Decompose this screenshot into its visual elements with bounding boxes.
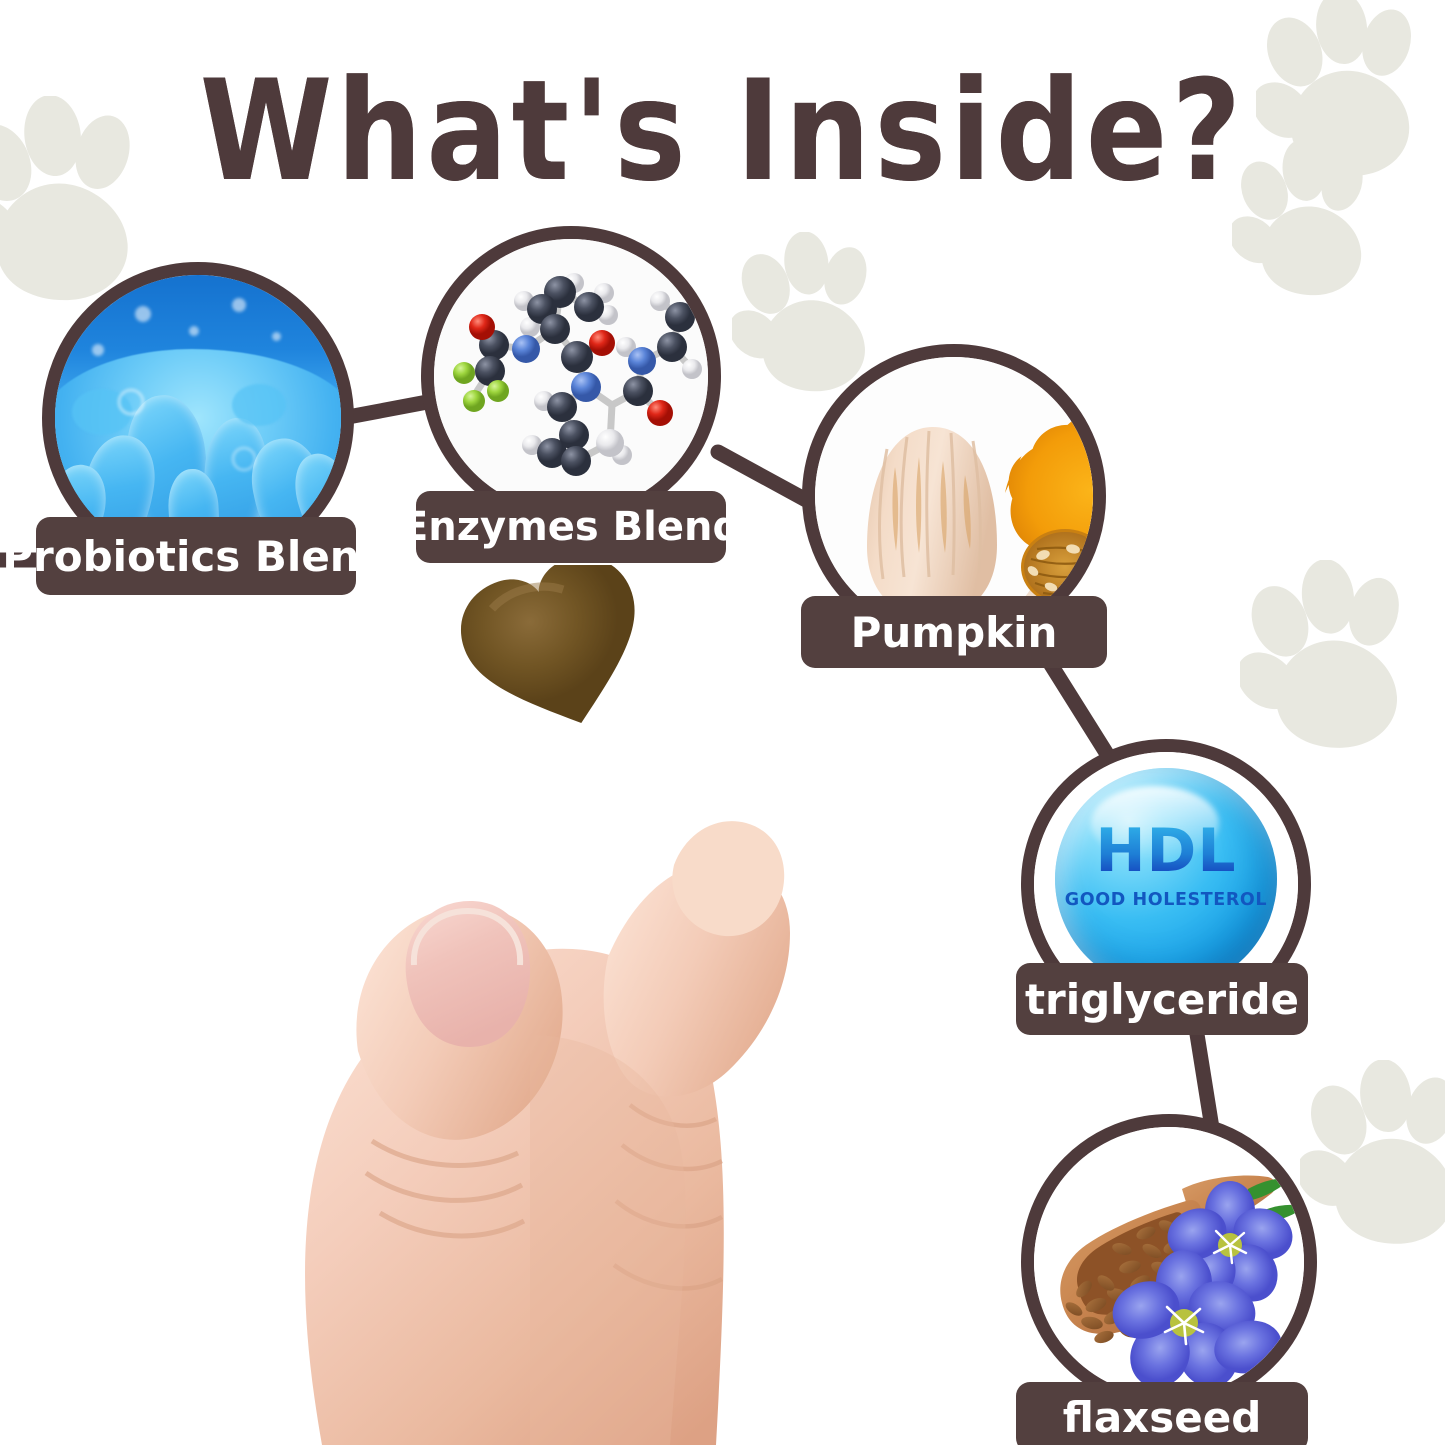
label-enzymes[interactable]: Enzymes Blend [416, 491, 726, 563]
hand-holding-treat [230, 565, 870, 1445]
label-triglyceride-text: triglyceride [1025, 975, 1299, 1024]
label-enzymes-text: Enzymes Blend [401, 504, 741, 550]
connector-pumpkin-triglyceride [1048, 660, 1112, 762]
hdl-subtitle: GOOD HOLESTEROL [1055, 890, 1277, 910]
connector-triglyceride-flaxseed [1196, 1028, 1212, 1128]
infographic-canvas: What's Inside? What's Inside? [0, 0, 1445, 1445]
heart-shaped-treat [448, 565, 665, 750]
label-flaxseed-text: flaxseed [1063, 1393, 1262, 1442]
thumbnail [406, 901, 530, 1047]
flaxseed-image-circle [1021, 1114, 1317, 1410]
flaxseed-icon [1034, 1127, 1304, 1397]
hdl-title: HDL [1055, 821, 1277, 881]
label-probiotics-text: Probiotics Blend [2, 532, 390, 581]
page-title-text: What's Inside? [200, 49, 1246, 212]
label-probiotics[interactable]: Probiotics Blend [36, 517, 356, 595]
molecule-model-icon [434, 239, 708, 513]
label-flaxseed[interactable]: flaxseed [1016, 1382, 1308, 1445]
index-fingertip [672, 821, 784, 936]
enzymes-image-circle [421, 226, 721, 526]
label-pumpkin[interactable]: Pumpkin [801, 596, 1107, 668]
page-title: What's Inside? [0, 48, 1445, 213]
label-pumpkin-text: Pumpkin [851, 608, 1058, 657]
label-triglyceride[interactable]: triglyceride [1016, 963, 1308, 1035]
